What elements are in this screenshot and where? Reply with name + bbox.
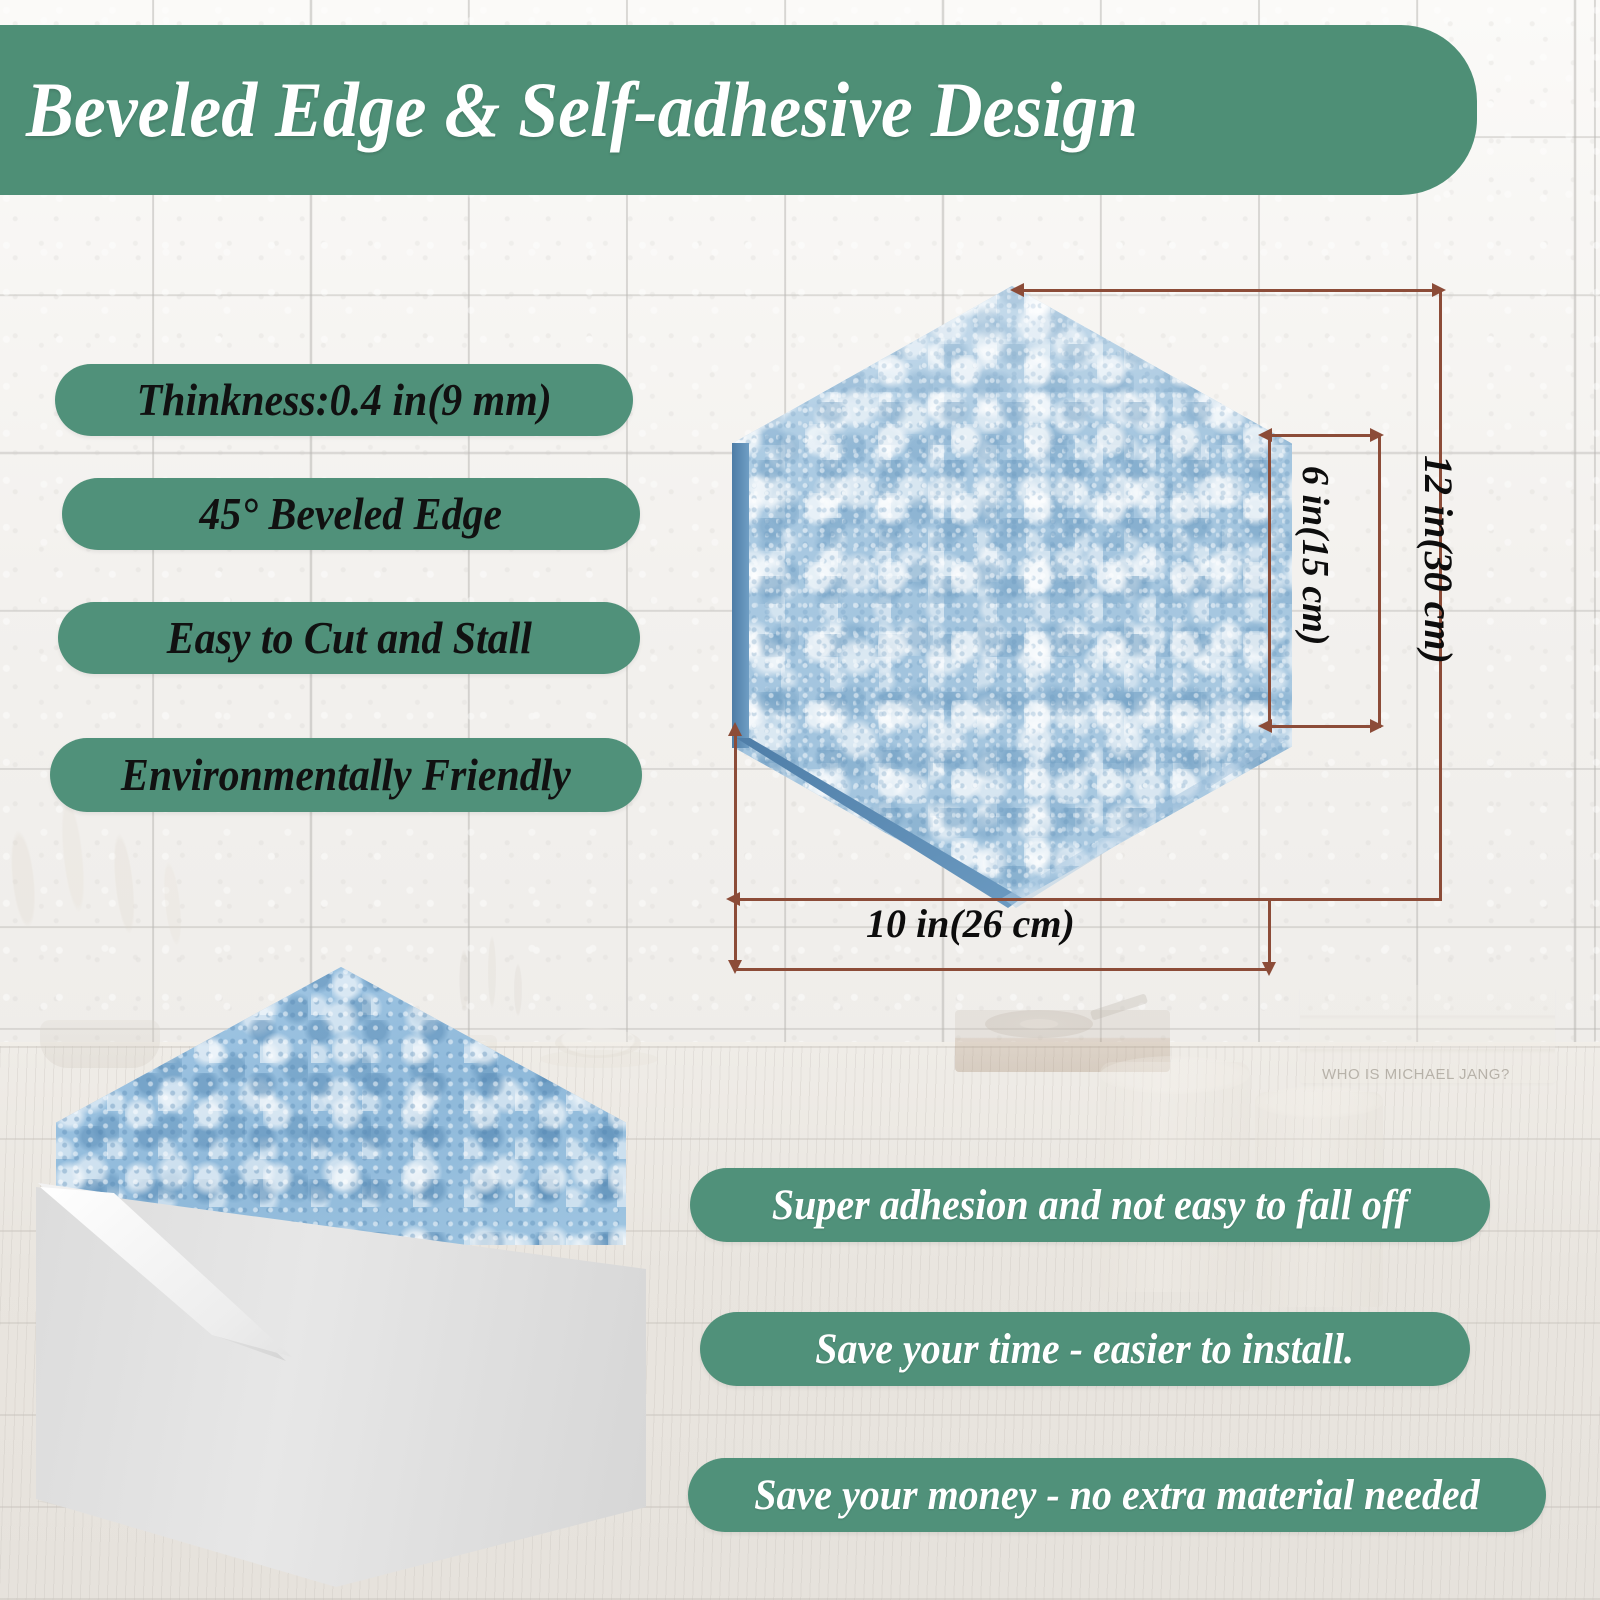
hexagon-acoustic-panel	[732, 286, 1292, 904]
dim-six-inch-arrow-right-lower	[1370, 719, 1384, 733]
feature-pill-easy-to-cut-label: Easy to Cut and Stall	[166, 612, 531, 664]
dim-bottom-extension-line	[738, 898, 1442, 901]
wood-stump-top-right	[1255, 1086, 1383, 1118]
feature-pill-save-money-label: Save your money - no extra material need…	[754, 1471, 1479, 1520]
dim-six-inch-bottom-line	[1270, 725, 1380, 728]
dim-width-left-arrow-up	[728, 722, 742, 736]
wood-stump-top-left	[1100, 1056, 1250, 1094]
dim-width-left-extension	[734, 730, 737, 968]
feature-pill-super-adhesion[interactable]: Super adhesion and not easy to fall off	[690, 1168, 1490, 1242]
dim-top-arrow-left	[1010, 283, 1024, 297]
infographic-canvas: WHO IS MICHAEL JANG? Beveled Edge & Self…	[0, 0, 1600, 1600]
dim-six-inch-arrow-right	[1370, 428, 1384, 442]
feature-pill-environmentally-friendly-label: Environmentally Friendly	[121, 749, 571, 801]
feature-pill-beveled-edge-label: 45° Beveled Edge	[200, 488, 503, 540]
feature-pill-thickness-label: Thinkness:0.4 in(9 mm)	[136, 374, 551, 426]
feature-pill-save-money[interactable]: Save your money - no extra material need…	[688, 1458, 1546, 1532]
dim-six-inch-right-line	[1378, 434, 1381, 728]
dim-width-label: 10 in(26 cm)	[866, 900, 1075, 947]
self-adhesive-peel-demo	[22, 955, 662, 1600]
feature-pill-save-time-label: Save your time - easier to install.	[816, 1325, 1355, 1374]
dim-side-height-label: 6 in(15 cm)	[1293, 466, 1337, 645]
dim-bottom-arrow-left	[726, 892, 740, 906]
feature-pill-save-time[interactable]: Save your time - easier to install.	[700, 1312, 1470, 1386]
feature-pill-environmentally-friendly[interactable]: Environmentally Friendly	[50, 738, 642, 812]
page-title: Beveled Edge & Self-adhesive Design	[26, 71, 1138, 149]
dim-width-line	[736, 968, 1270, 971]
hexagon-bevel-left-edge	[732, 443, 749, 748]
feature-pill-easy-to-cut[interactable]: Easy to Cut and Stall	[58, 602, 640, 674]
feature-pill-thickness[interactable]: Thinkness:0.4 in(9 mm)	[55, 364, 633, 436]
dim-six-inch-vertical-line	[1268, 434, 1271, 728]
dim-width-right-extension	[1268, 898, 1271, 970]
dim-six-inch-top-line	[1270, 434, 1380, 437]
feature-pill-beveled-edge[interactable]: 45° Beveled Edge	[62, 478, 640, 550]
book-title-text: WHO IS MICHAEL JANG?	[1322, 1066, 1510, 1083]
dim-total-height-label: 12 in(30 cm)	[1415, 455, 1462, 664]
dim-width-left-arrow-down	[728, 960, 742, 974]
hexagon-top-highlight	[732, 286, 1292, 456]
feature-pill-super-adhesion-label: Super adhesion and not easy to fall off	[772, 1181, 1408, 1230]
record-platter	[985, 1010, 1093, 1038]
dim-top-extension-line	[1022, 289, 1442, 292]
header-banner: Beveled Edge & Self-adhesive Design	[0, 25, 1477, 195]
